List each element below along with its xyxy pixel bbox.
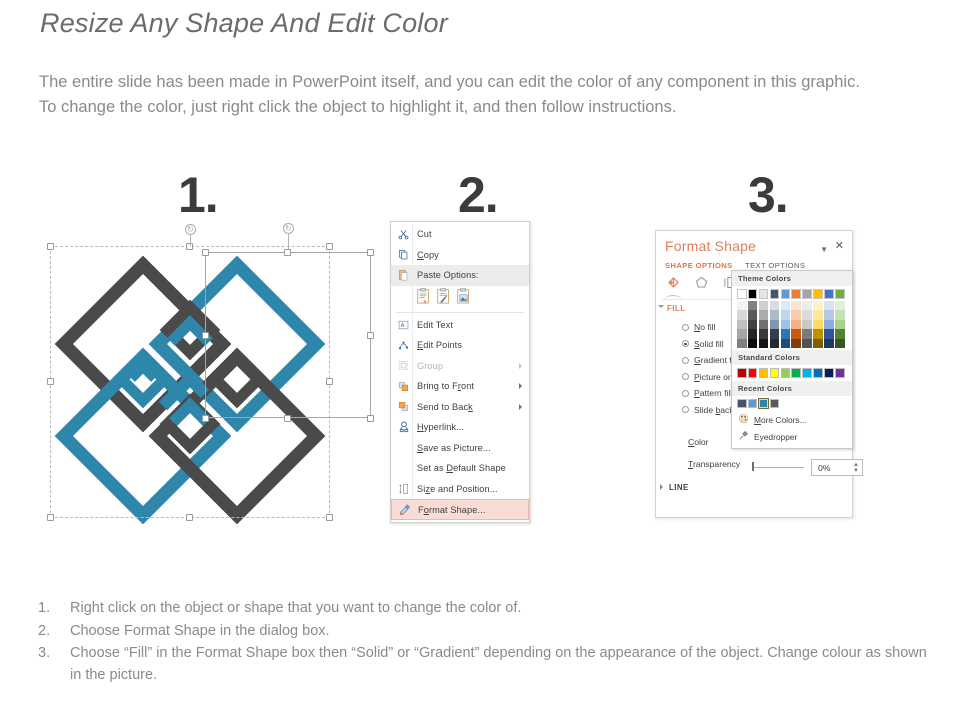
theme-color-variant-swatch[interactable] — [791, 329, 801, 339]
theme-color-column[interactable] — [835, 289, 845, 348]
standard-color-swatch[interactable] — [781, 368, 791, 378]
list-item-number: 2. — [38, 621, 70, 643]
theme-color-column[interactable] — [781, 289, 791, 348]
list-item: 3. Choose “Fill” in the Format Shape box… — [38, 643, 938, 686]
standard-colors-row[interactable] — [732, 365, 852, 381]
inner-resize-handle-nw[interactable] — [202, 249, 209, 256]
radio-label: Solid fill — [694, 339, 724, 349]
slide-canvas: Resize Any Shape And Edit Color The enti… — [0, 0, 960, 720]
theme-color-variant-swatch[interactable] — [802, 301, 812, 311]
theme-color-variant-swatch[interactable] — [770, 301, 780, 311]
rotation-stem-1 — [190, 234, 191, 246]
theme-color-variant-swatch[interactable] — [824, 320, 834, 330]
theme-color-variant-swatch[interactable] — [748, 339, 758, 349]
radio-indicator — [682, 373, 689, 380]
submenu-arrow-icon — [519, 383, 522, 389]
edit-text-icon: A — [395, 317, 412, 332]
theme-color-variant-swatch[interactable] — [791, 339, 801, 349]
group-icon — [395, 358, 412, 373]
theme-color-variant-swatch[interactable] — [835, 329, 845, 339]
recent-colors-row[interactable] — [732, 396, 852, 412]
theme-color-variant-swatch[interactable] — [781, 301, 791, 311]
line-section-header[interactable]: LINE — [669, 483, 689, 492]
menu-item-edit-text[interactable]: A Edit Text — [391, 315, 529, 336]
page-title: Resize Any Shape And Edit Color — [40, 8, 448, 39]
menu-item-copy[interactable]: Copy — [391, 245, 529, 266]
selection-bounds-inner — [205, 252, 371, 418]
step-number-3: 3. — [748, 170, 788, 220]
line-section-toggle-icon[interactable] — [660, 484, 663, 490]
theme-color-variant-swatch[interactable] — [791, 301, 801, 311]
theme-color-swatch[interactable] — [770, 289, 780, 299]
theme-color-column[interactable] — [759, 289, 769, 348]
close-icon[interactable]: ✕ — [835, 239, 844, 252]
color-row-label: Color — [688, 437, 709, 447]
eyedropper-label: Eyedropper — [754, 432, 797, 442]
theme-color-variant-swatch[interactable] — [748, 310, 758, 320]
theme-color-variant-swatch[interactable] — [748, 329, 758, 339]
theme-color-variant-swatch[interactable] — [813, 329, 823, 339]
menu-item-paste-options[interactable]: Paste Options: — [391, 265, 529, 286]
standard-color-swatch[interactable] — [824, 368, 834, 378]
theme-color-variant-swatch[interactable] — [802, 329, 812, 339]
scissors-icon — [395, 227, 412, 242]
edit-points-icon — [395, 338, 412, 353]
list-item-text: Choose “Fill” in the Format Shape box th… — [70, 643, 938, 686]
menu-item-edit-points[interactable]: Edit Points — [391, 335, 529, 356]
theme-color-variant-swatch[interactable] — [824, 301, 834, 311]
theme-color-variant-swatch[interactable] — [737, 329, 747, 339]
list-item-text: Choose Format Shape in the dialog box. — [70, 621, 938, 643]
eyedropper-icon — [738, 430, 749, 443]
bring-front-icon — [395, 379, 412, 394]
radio-indicator — [682, 340, 689, 347]
pane-tabs: SHAPE OPTIONS TEXT OPTIONS — [665, 261, 815, 270]
theme-color-variant-swatch[interactable] — [824, 339, 834, 349]
inner-resize-handle-w[interactable] — [202, 332, 209, 339]
menu-item-label: Save as Picture... — [412, 443, 491, 453]
context-menu[interactable]: Cut Copy Paste Options: — [390, 221, 530, 523]
theme-color-column[interactable] — [791, 289, 801, 348]
theme-color-variant-swatch[interactable] — [813, 339, 823, 349]
theme-color-column[interactable] — [770, 289, 780, 348]
transparency-value-input[interactable]: 0% ▲▼ — [811, 459, 863, 476]
submenu-arrow-icon — [519, 363, 522, 369]
transparency-row-label: Transparency — [688, 459, 740, 469]
theme-color-variant-swatch[interactable] — [813, 320, 823, 330]
theme-color-variant-swatch[interactable] — [835, 301, 845, 311]
theme-color-variant-swatch[interactable] — [835, 339, 845, 349]
menu-item-bring-to-front[interactable]: Bring to Front — [391, 376, 529, 397]
resize-handle-s[interactable] — [186, 514, 193, 521]
resize-handle-nw[interactable] — [47, 243, 54, 250]
theme-color-variant-swatch[interactable] — [781, 320, 791, 330]
standard-color-swatch[interactable] — [835, 368, 845, 378]
menu-item-label: Copy — [412, 250, 439, 260]
inner-resize-handle-sw[interactable] — [202, 415, 209, 422]
send-back-icon — [395, 399, 412, 414]
intro-paragraph: The entire slide has been made in PowerP… — [39, 70, 867, 120]
menu-item-label: Edit Text — [412, 320, 453, 330]
more-colors-label: More Colors... — [754, 415, 807, 425]
inner-resize-handle-n[interactable] — [284, 249, 291, 256]
resize-handle-sw[interactable] — [47, 514, 54, 521]
theme-color-variant-swatch[interactable] — [824, 310, 834, 320]
step-number-2: 2. — [458, 170, 498, 220]
theme-color-variant-swatch[interactable] — [824, 329, 834, 339]
theme-color-variant-swatch[interactable] — [802, 339, 812, 349]
theme-color-variant-swatch[interactable] — [770, 320, 780, 330]
active-tab-underline — [664, 295, 682, 301]
color-picker-flyout[interactable]: Theme Colors Standard Colors Recent Colo… — [731, 270, 853, 449]
list-item-text: Right click on the object or shape that … — [70, 598, 938, 620]
list-item-number: 3. — [38, 643, 70, 686]
transparency-slider-knob[interactable] — [752, 462, 754, 471]
theme-color-swatch[interactable] — [835, 289, 845, 299]
pane-title: Format Shape — [665, 238, 756, 254]
theme-color-column[interactable] — [813, 289, 823, 348]
menu-item-hyperlink[interactable]: Hyperlink... — [391, 417, 529, 438]
tab-text-options[interactable]: TEXT OPTIONS — [745, 261, 805, 270]
step-1-shape-selection: ↻ ↻ — [45, 232, 335, 524]
theme-color-variant-swatch[interactable] — [770, 310, 780, 320]
tab-shape-options[interactable]: SHAPE OPTIONS — [665, 261, 733, 270]
radio-indicator — [682, 406, 689, 413]
format-shape-icon — [396, 502, 413, 517]
menu-item-set-default-shape[interactable]: Set as Default Shape — [391, 458, 529, 479]
eyedropper-item[interactable]: Eyedropper — [732, 428, 852, 445]
recent-color-swatch[interactable] — [770, 399, 780, 409]
rotation-stem-2 — [288, 234, 289, 249]
menu-item-label: Send to Back — [412, 402, 473, 412]
theme-color-variant-swatch[interactable] — [737, 301, 747, 311]
standard-color-swatch[interactable] — [802, 368, 812, 378]
chevron-down-icon[interactable]: ▼ — [820, 245, 828, 254]
menu-item-label: Format Shape... — [413, 505, 485, 515]
standard-color-swatch[interactable] — [737, 368, 747, 378]
standard-colors-header: Standard Colors — [732, 350, 852, 365]
menu-item-format-shape[interactable]: Format Shape... — [391, 499, 529, 520]
theme-color-variant-swatch[interactable] — [759, 310, 769, 320]
menu-item-label: Set as Default Shape — [412, 463, 506, 473]
copy-icon — [395, 247, 412, 262]
menu-item-group: Group — [391, 356, 529, 377]
theme-color-swatch[interactable] — [781, 289, 791, 299]
theme-color-swatch[interactable] — [813, 289, 823, 299]
list-item-number: 1. — [38, 598, 70, 620]
size-position-icon — [395, 481, 412, 496]
list-item: 2. Choose Format Shape in the dialog box… — [38, 621, 938, 643]
radio-indicator — [682, 357, 689, 364]
resize-handle-e[interactable] — [326, 378, 333, 385]
menu-item-label: Cut — [412, 229, 432, 239]
standard-color-swatch[interactable] — [759, 368, 769, 378]
pane-icon-row — [666, 275, 737, 295]
inner-resize-handle-s[interactable] — [284, 415, 291, 422]
theme-color-variant-swatch[interactable] — [759, 301, 769, 311]
theme-color-swatch[interactable] — [737, 289, 747, 299]
list-item: 1. Right click on the object or shape th… — [38, 598, 938, 620]
recent-color-swatch[interactable] — [737, 399, 747, 409]
radio-indicator — [682, 390, 689, 397]
inner-resize-handle-ne[interactable] — [367, 249, 374, 256]
recent-color-swatch[interactable] — [748, 399, 758, 409]
menu-item-label: Group — [412, 361, 443, 371]
recent-colors-header: Recent Colors — [732, 381, 852, 396]
menu-item-label: Hyperlink... — [412, 422, 464, 432]
menu-item-label: Paste Options: — [412, 270, 479, 280]
standard-color-swatch[interactable] — [770, 368, 780, 378]
theme-color-variant-swatch[interactable] — [781, 339, 791, 349]
more-colors-item[interactable]: More Colors... — [732, 411, 852, 428]
rotation-handle-2[interactable]: ↻ — [283, 223, 294, 234]
theme-color-variant-swatch[interactable] — [759, 339, 769, 349]
palette-icon — [738, 413, 749, 426]
menu-item-cut[interactable]: Cut — [391, 224, 529, 245]
theme-color-variant-swatch[interactable] — [835, 320, 845, 330]
theme-colors-grid[interactable] — [732, 286, 852, 350]
standard-color-swatch[interactable] — [791, 368, 801, 378]
paste-icon — [395, 268, 412, 283]
effects-pentagon-icon[interactable] — [694, 275, 709, 295]
resize-handle-ne[interactable] — [326, 243, 333, 250]
fill-bucket-icon[interactable] — [666, 275, 681, 295]
radio-label: No fill — [694, 322, 716, 332]
resize-handle-se[interactable] — [326, 514, 333, 521]
fill-section-toggle-icon[interactable] — [658, 305, 664, 308]
spinner-arrows-icon[interactable]: ▲▼ — [853, 462, 859, 474]
svg-text:A: A — [401, 323, 405, 329]
submenu-arrow-icon — [519, 404, 522, 410]
theme-color-variant-swatch[interactable] — [802, 310, 812, 320]
theme-color-variant-swatch[interactable] — [781, 310, 791, 320]
rotation-handle-1[interactable]: ↻ — [185, 224, 196, 235]
menu-item-label: Edit Points — [412, 340, 462, 350]
recent-color-swatch[interactable] — [759, 399, 769, 409]
transparency-value: 0% — [818, 463, 830, 473]
theme-color-variant-swatch[interactable] — [748, 320, 758, 330]
theme-color-swatch[interactable] — [824, 289, 834, 299]
hyperlink-icon — [395, 420, 412, 435]
theme-color-variant-swatch[interactable] — [759, 320, 769, 330]
theme-color-variant-swatch[interactable] — [791, 310, 801, 320]
theme-color-variant-swatch[interactable] — [781, 329, 791, 339]
theme-color-column[interactable] — [824, 289, 834, 348]
radio-label: Pattern fill — [694, 388, 732, 398]
theme-color-column[interactable] — [748, 289, 758, 348]
inner-resize-handle-e[interactable] — [367, 332, 374, 339]
theme-color-swatch[interactable] — [748, 289, 758, 299]
paste-picture-icon[interactable] — [456, 288, 471, 306]
theme-color-variant-swatch[interactable] — [770, 339, 780, 349]
paste-merge-formatting-icon[interactable] — [436, 288, 451, 306]
menu-item-label: Size and Position... — [412, 484, 498, 494]
resize-handle-w[interactable] — [47, 378, 54, 385]
theme-color-variant-swatch[interactable] — [748, 301, 758, 311]
standard-color-swatch[interactable] — [813, 368, 823, 378]
instructions-list: 1. Right click on the object or shape th… — [38, 598, 938, 687]
fill-section-header[interactable]: FILL — [667, 304, 685, 313]
theme-color-variant-swatch[interactable] — [737, 310, 747, 320]
theme-color-variant-swatch[interactable] — [759, 329, 769, 339]
svg-text:a: a — [424, 298, 427, 303]
theme-color-variant-swatch[interactable] — [835, 310, 845, 320]
theme-color-variant-swatch[interactable] — [791, 320, 801, 330]
theme-color-variant-swatch[interactable] — [813, 301, 823, 311]
theme-color-column[interactable] — [802, 289, 812, 348]
theme-color-variant-swatch[interactable] — [737, 320, 747, 330]
inner-resize-handle-se[interactable] — [367, 415, 374, 422]
theme-colors-header: Theme Colors — [732, 271, 852, 286]
radio-indicator — [682, 324, 689, 331]
menu-separator — [396, 312, 524, 313]
theme-color-swatch[interactable] — [802, 289, 812, 299]
menu-item-save-as-picture[interactable]: Save as Picture... — [391, 438, 529, 459]
theme-color-variant-swatch[interactable] — [813, 310, 823, 320]
theme-color-column[interactable] — [737, 289, 747, 348]
theme-color-variant-swatch[interactable] — [737, 339, 747, 349]
save-picture-icon — [395, 440, 412, 455]
transparency-slider-track[interactable] — [754, 467, 804, 468]
theme-color-swatch[interactable] — [791, 289, 801, 299]
theme-color-variant-swatch[interactable] — [802, 320, 812, 330]
theme-color-variant-swatch[interactable] — [770, 329, 780, 339]
step-number-1: 1. — [178, 170, 218, 220]
menu-item-label: Bring to Front — [412, 381, 474, 391]
default-shape-icon — [395, 461, 412, 476]
standard-color-swatch[interactable] — [748, 368, 758, 378]
menu-item-size-and-position[interactable]: Size and Position... — [391, 479, 529, 500]
paste-keep-formatting-icon[interactable]: a — [416, 288, 431, 306]
theme-color-swatch[interactable] — [759, 289, 769, 299]
menu-item-send-to-back[interactable]: Send to Back — [391, 397, 529, 418]
